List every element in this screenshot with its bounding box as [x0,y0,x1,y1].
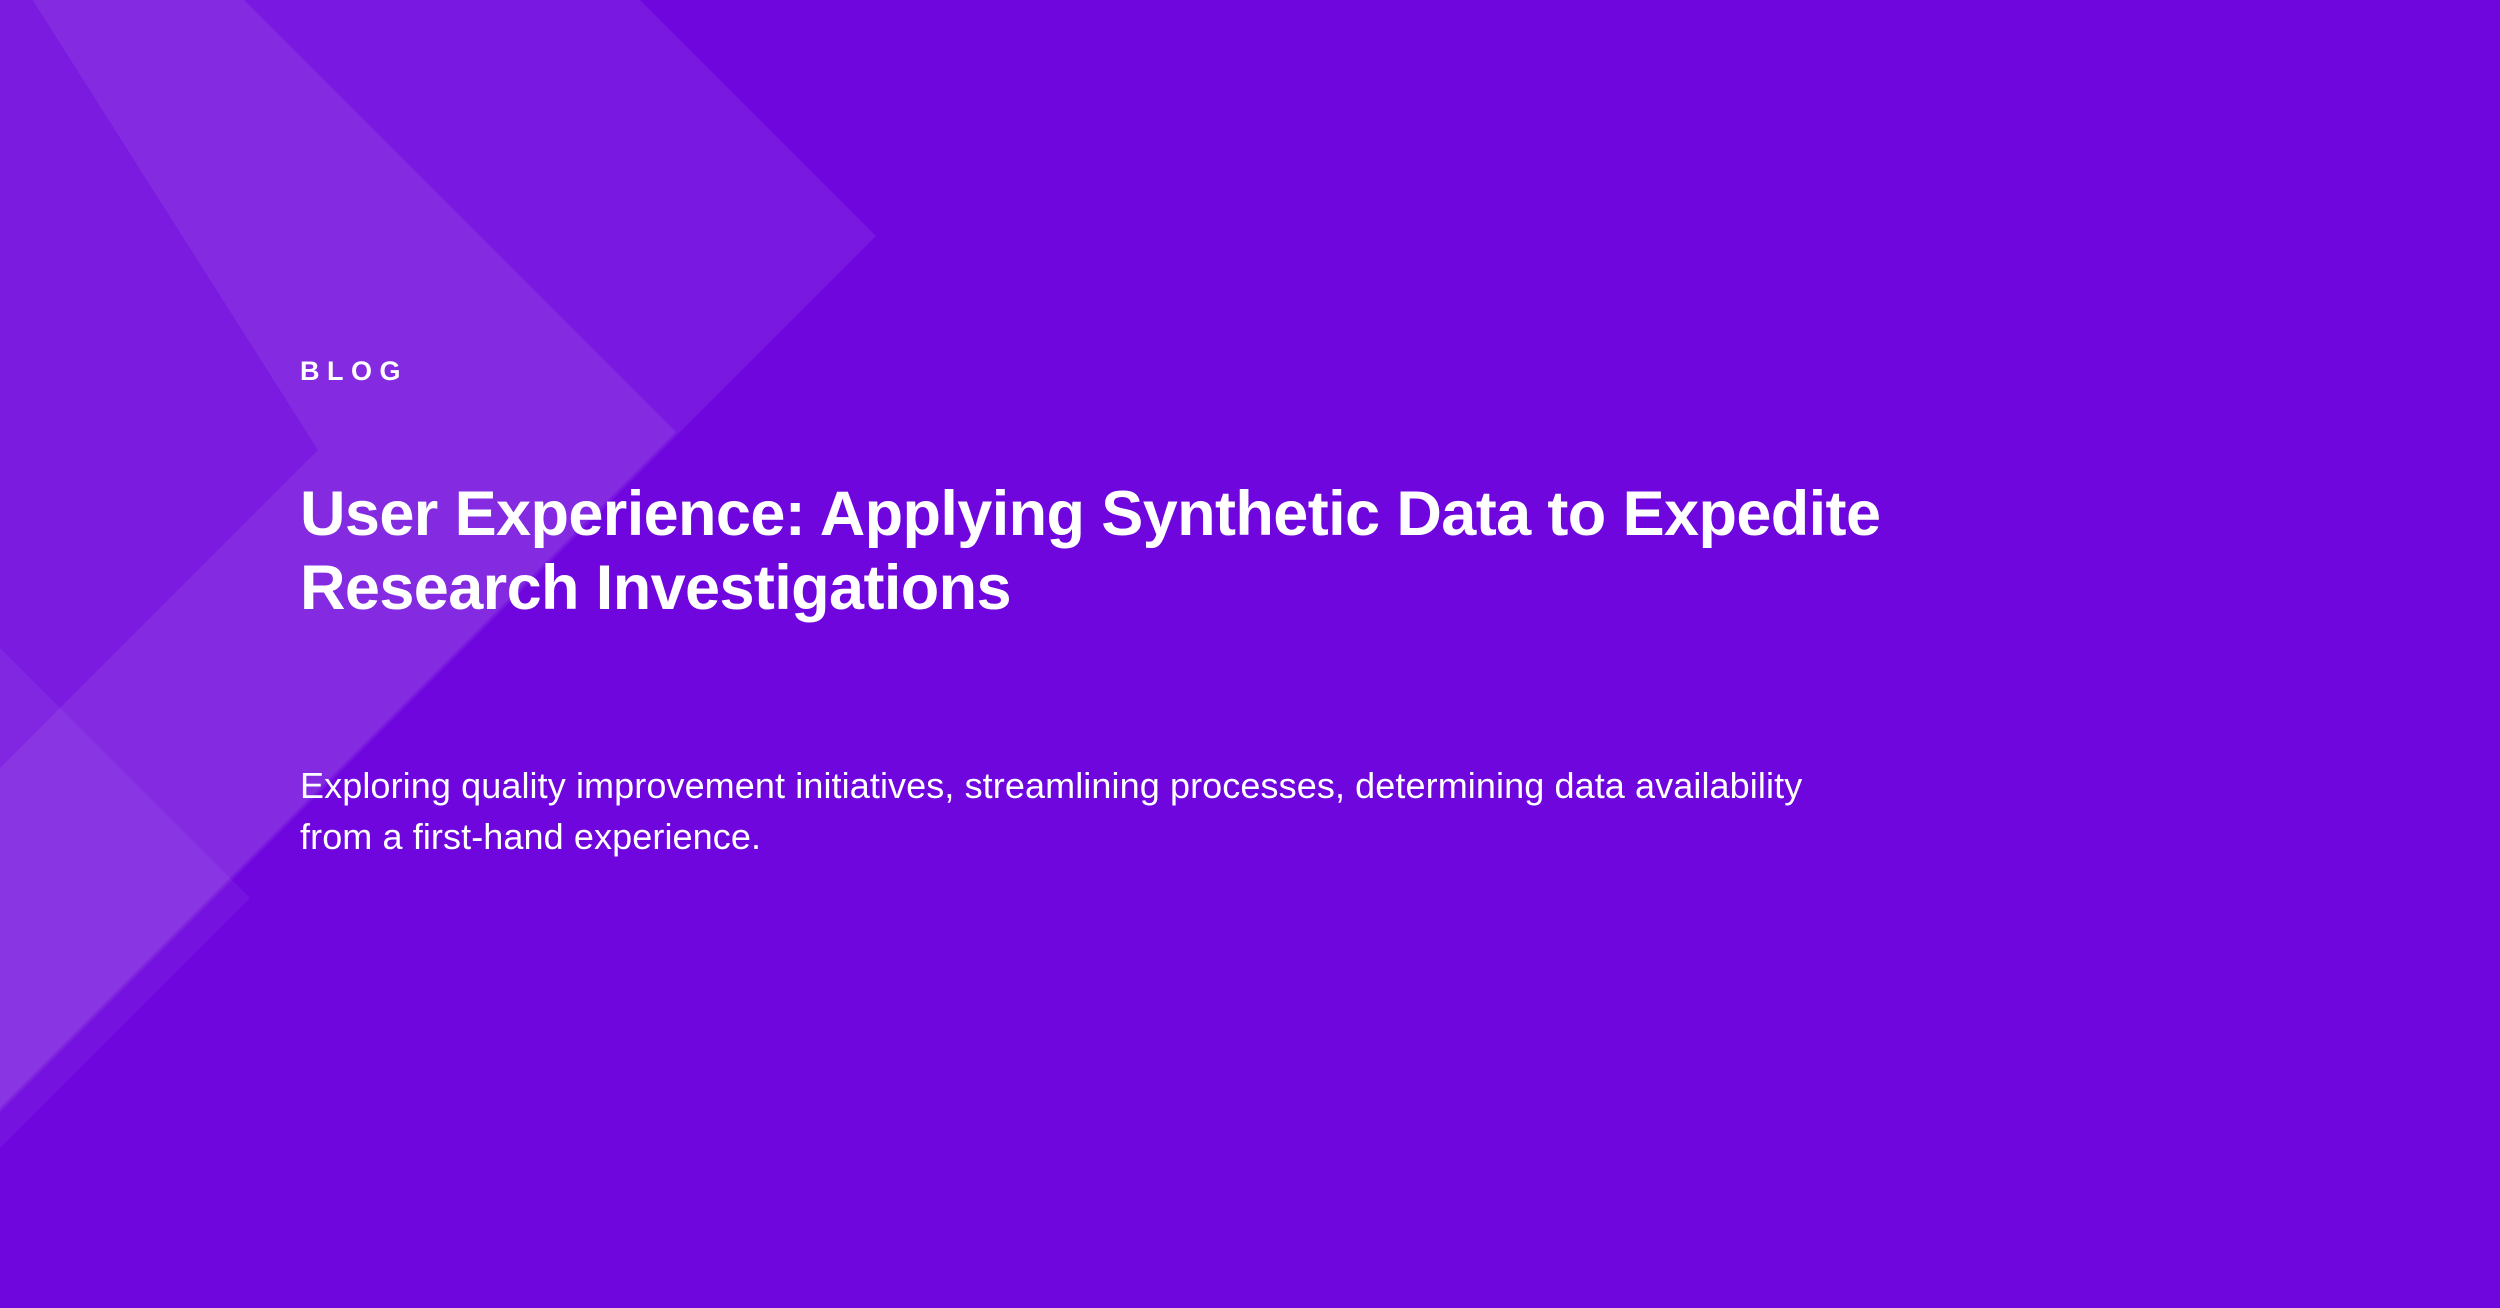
diagonal-accent-lower [0,628,250,1308]
page-subtitle: Exploring quality improvement initiative… [300,760,1860,862]
category-eyebrow: BLOG [300,355,408,387]
page-title: User Experience: Applying Synthetic Data… [300,478,1980,625]
blog-hero-banner: BLOG User Experience: Applying Synthetic… [0,0,2500,1308]
hero-content: BLOG User Experience: Applying Synthetic… [300,0,2100,1308]
